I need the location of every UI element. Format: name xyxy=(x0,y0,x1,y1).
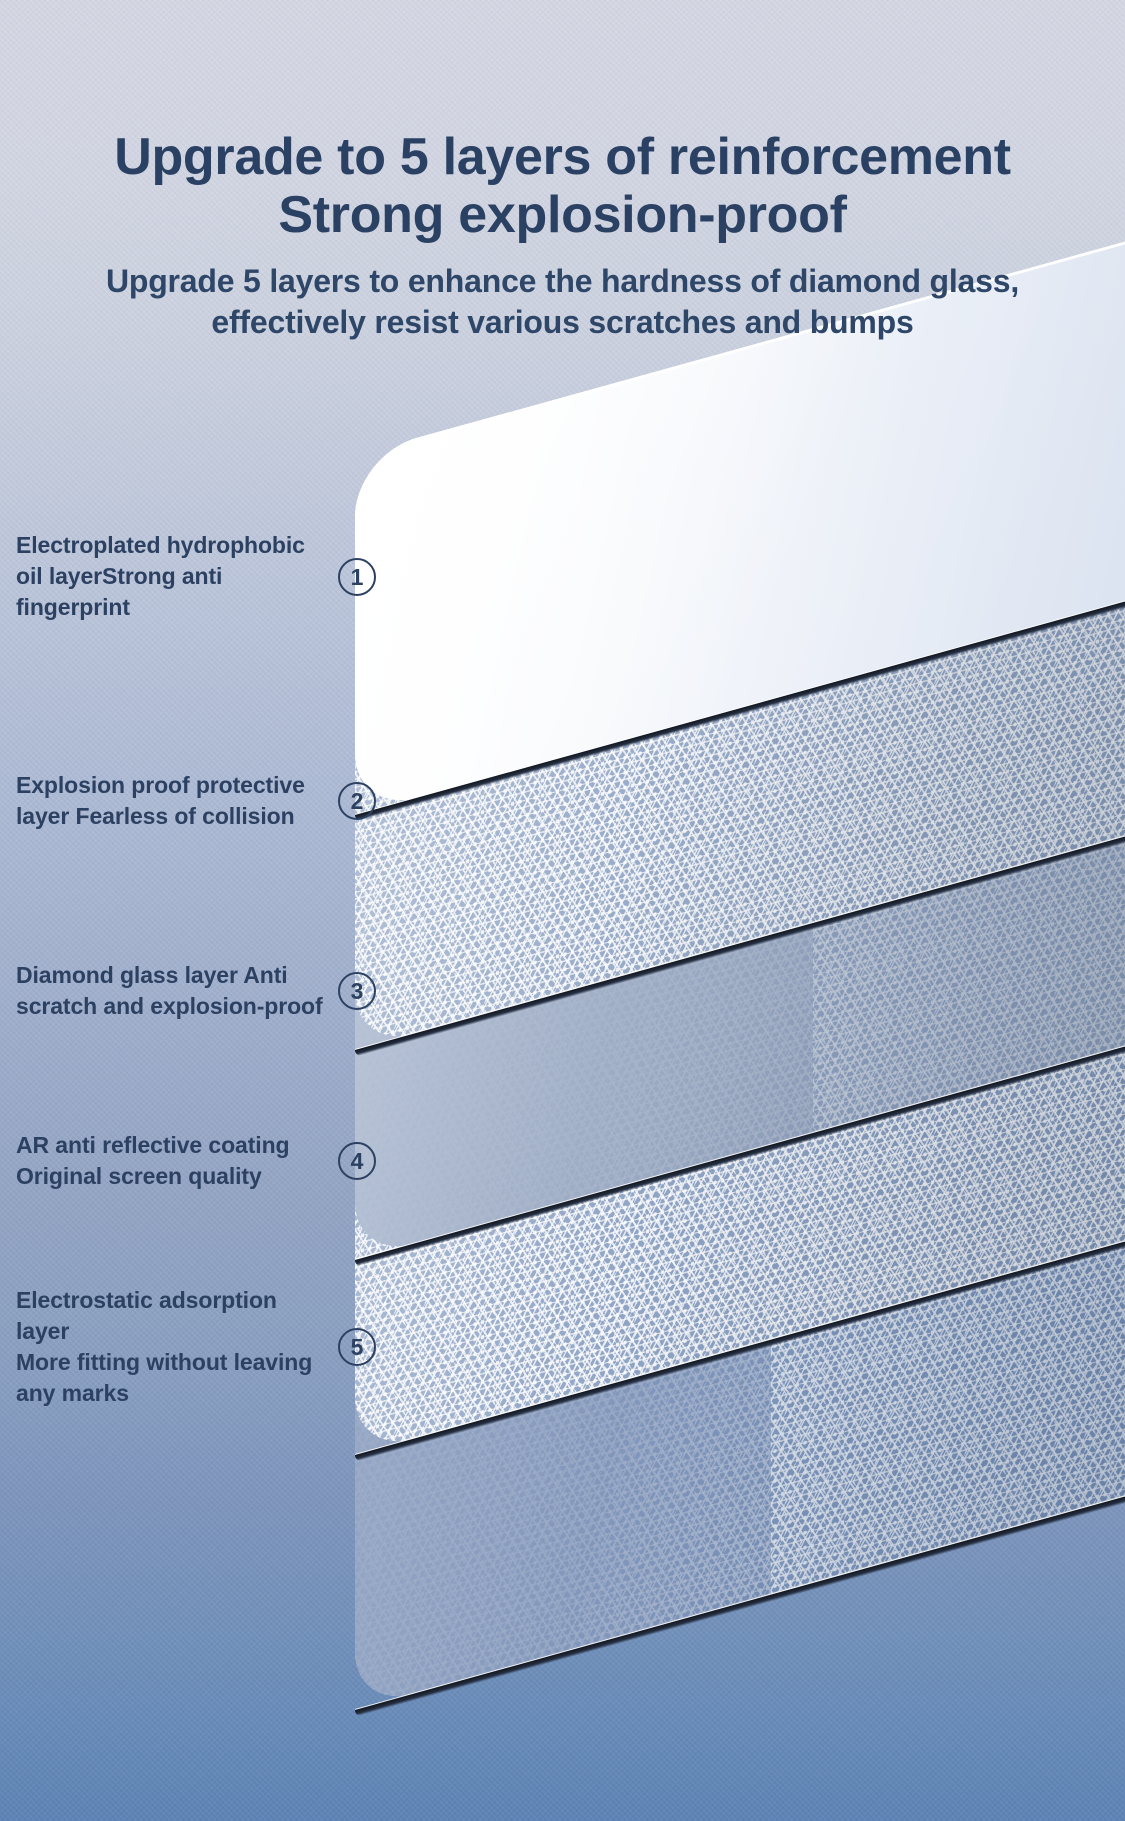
layer-badge-3: 3 xyxy=(338,972,376,1010)
layer-badge-5: 5 xyxy=(338,1328,376,1366)
layer-label-4-text: AR anti reflective coating Original scre… xyxy=(16,1130,328,1192)
layer-label-5-line-2: More fitting without leaving xyxy=(16,1349,312,1375)
layer-label-3-line-1: Diamond glass layer Anti xyxy=(16,962,288,988)
layer-badge-1: 1 xyxy=(338,558,376,596)
layer-label-1-text: Electroplated hydrophobic oil layerStron… xyxy=(16,530,328,623)
layer-label-5-line-3: any marks xyxy=(16,1380,129,1406)
layer-label-5-text: Electrostatic adsorption layer More fitt… xyxy=(16,1285,328,1409)
layer-label-2-line-1: Explosion proof protective xyxy=(16,772,305,798)
product-infographic: Upgrade to 5 layers of reinforcement Str… xyxy=(0,0,1125,1821)
layer-label-1-line-1: Electroplated hydrophobic xyxy=(16,532,305,558)
layer-badge-2: 2 xyxy=(338,782,376,820)
layer-label-5: Electrostatic adsorption layer More fitt… xyxy=(16,1285,376,1409)
layer-label-1-line-2: oil layerStrong anti fingerprint xyxy=(16,563,222,620)
layer-label-2-line-2: layer Fearless of collision xyxy=(16,803,295,829)
layer-label-4-line-1: AR anti reflective coating xyxy=(16,1132,289,1158)
layer-label-5-line-1: Electrostatic adsorption layer xyxy=(16,1287,277,1344)
layer-label-list: Electroplated hydrophobic oil layerStron… xyxy=(0,0,380,1821)
layer-label-2: Explosion proof protective layer Fearles… xyxy=(16,770,376,832)
layer-label-3-line-2: scratch and explosion-proof xyxy=(16,993,323,1019)
layer-label-1: Electroplated hydrophobic oil layerStron… xyxy=(16,530,376,623)
layer-label-2-text: Explosion proof protective layer Fearles… xyxy=(16,770,328,832)
layer-label-4-line-2: Original screen quality xyxy=(16,1163,262,1189)
layer-label-3: Diamond glass layer Anti scratch and exp… xyxy=(16,960,376,1022)
layer-label-4: AR anti reflective coating Original scre… xyxy=(16,1130,376,1192)
layer-label-3-text: Diamond glass layer Anti scratch and exp… xyxy=(16,960,328,1022)
layer-badge-4: 4 xyxy=(338,1142,376,1180)
